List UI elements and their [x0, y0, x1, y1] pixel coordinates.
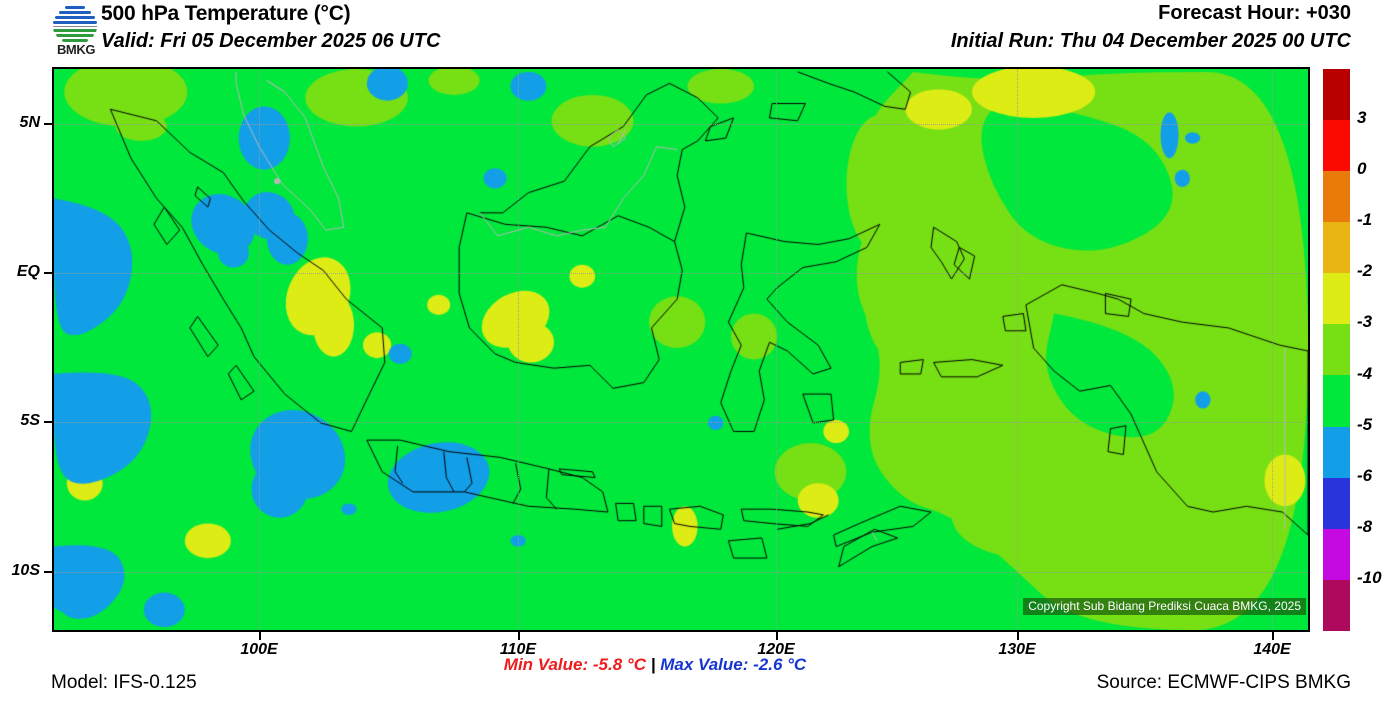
temperature-colorbar[interactable]: [1322, 68, 1351, 632]
gridline-lat-5s: [54, 422, 1308, 423]
colorbar-label-neg1: -1: [1357, 210, 1372, 230]
colorbar-band-10: [1323, 580, 1350, 631]
max-value-label: Max Value: -2.6 °C: [660, 655, 806, 674]
colorbar-label-neg8: -8: [1357, 517, 1372, 537]
gridline-lon-120e: [776, 69, 777, 630]
colorbar-label-neg3: -3: [1357, 312, 1372, 332]
colorbar-label-neg2: -2: [1357, 261, 1372, 281]
header-bar: BMKG 500 hPa Temperature (°C) Valid: Fri…: [0, 0, 1400, 60]
source-label: Source: ECMWF-CIPS BMKG: [1097, 672, 1351, 694]
tick-lon-100e: [259, 632, 261, 640]
colorbar-band-9: [1323, 529, 1350, 580]
colorbar-label-neg10: -10: [1357, 568, 1382, 588]
gridline-lon-140e: [1272, 69, 1273, 630]
gridline-lon-100e: [259, 69, 260, 630]
bmkg-logo-icon: BMKG: [44, 1, 106, 59]
gridline-lat-5n: [54, 124, 1308, 125]
colorbar-band-8: [1323, 478, 1350, 529]
min-value-label: Min Value: -5.8 °C: [504, 655, 646, 674]
gridline-lat-10s: [54, 572, 1308, 573]
colorbar-band-7: [1323, 427, 1350, 478]
tick-lon-130e: [1017, 632, 1019, 640]
colorbar-label-neg5: -5: [1357, 415, 1372, 435]
gridline-lon-130e: [1017, 69, 1018, 630]
tick-lat-5n: [44, 123, 52, 125]
tick-lon-140e: [1272, 632, 1274, 640]
minmax-separator: |: [651, 655, 656, 674]
colorbar-band-5: [1323, 324, 1350, 375]
copyright-watermark: Copyright Sub Bidang Prediksi Cuaca BMKG…: [1023, 598, 1306, 615]
forecast-hour-label: Forecast Hour: +030: [1158, 2, 1351, 25]
tick-lat-5s: [44, 421, 52, 423]
colorbar-band-4: [1323, 273, 1350, 324]
colorbar-band-3: [1323, 222, 1350, 273]
bmkg-logo-label: BMKG: [48, 42, 104, 57]
colorbar-band-6: [1323, 375, 1350, 426]
tick-lat-10s: [44, 571, 52, 573]
gridline-lon-110e: [518, 69, 519, 630]
tick-lon-120e: [776, 632, 778, 640]
colorbar-label-neg6: -6: [1357, 466, 1372, 486]
colorbar-label-0: 0: [1357, 159, 1366, 179]
valid-time-label: Valid: Fri 05 December 2025 06 UTC: [101, 30, 440, 53]
tick-lat-eq: [44, 272, 52, 274]
colorbar-band-0: [1323, 69, 1350, 120]
initial-run-label: Initial Run: Thu 04 December 2025 00 UTC: [951, 30, 1351, 53]
temperature-map[interactable]: Copyright Sub Bidang Prediksi Cuaca BMKG…: [52, 67, 1310, 632]
colorbar-label-neg4: -4: [1357, 364, 1372, 384]
gridline-lat-eq: [54, 273, 1308, 274]
tick-lon-110e: [518, 632, 520, 640]
colorbar-label-3: 3: [1357, 108, 1366, 128]
model-label: Model: IFS-0.125: [51, 672, 197, 694]
colorbar-band-2: [1323, 171, 1350, 222]
colorbar-band-1: [1323, 120, 1350, 171]
temperature-field-canvas: [54, 69, 1308, 630]
axis-label-lat-10s: 10S: [0, 562, 40, 580]
bmkg-logo-emblem: [52, 1, 98, 45]
axis-label-lat-5n: 5N: [0, 114, 40, 132]
axis-label-lat-5s: 5S: [0, 412, 40, 430]
page-title: 500 hPa Temperature (°C): [101, 2, 350, 26]
axis-label-lat-eq: EQ: [0, 263, 40, 281]
